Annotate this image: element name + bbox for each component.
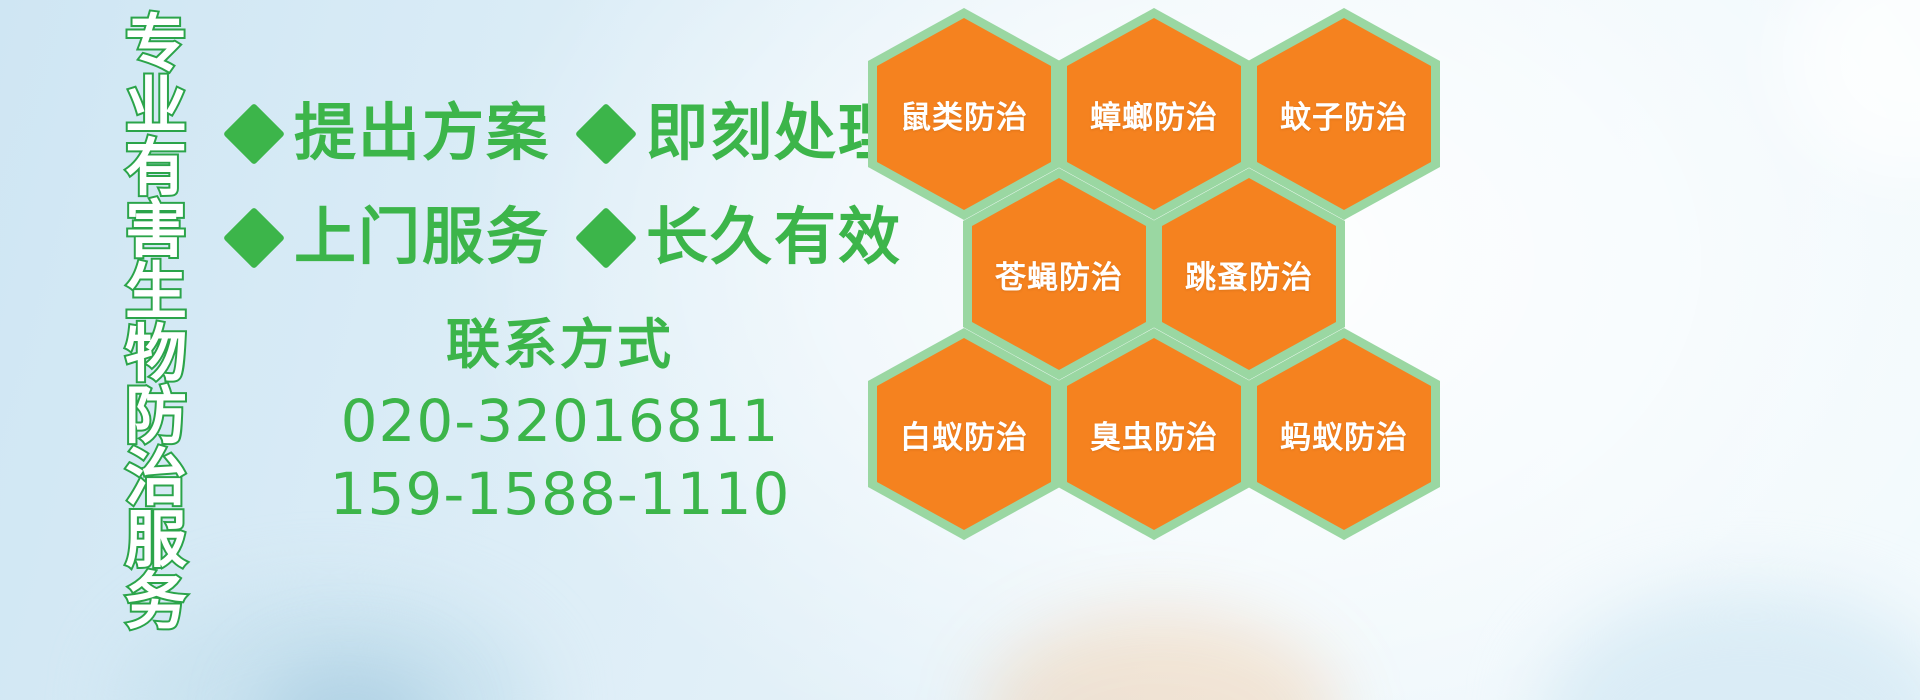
background-blur-blob (980, 610, 1340, 700)
service-hex-ant[interactable]: 蚂蚁防治 (1248, 328, 1440, 540)
vertical-headline-char: 治 (125, 448, 187, 510)
background-blur-blob (1540, 590, 1920, 700)
service-hex-termite[interactable]: 白蚁防治 (868, 328, 1060, 540)
service-honeycomb-grid: 鼠类防治 蟑螂防治 蚊子防治 苍蝇防治 跳蚤防治 白蚁防治 (860, 0, 1480, 580)
service-hex-label: 蚂蚁防治 (1280, 412, 1408, 457)
feature-item: 长久有效 (584, 207, 902, 269)
feature-item: 提出方案 (232, 103, 550, 165)
contact-block: 联系方式 020-32016811 159-1588-1110 (300, 316, 820, 530)
contact-phone-mobile[interactable]: 159-1588-1110 (300, 458, 820, 531)
vertical-headline-char: 专 (125, 14, 187, 76)
contact-phone-landline[interactable]: 020-32016811 (300, 385, 820, 458)
feature-label: 上门服务 (294, 207, 550, 269)
vertical-headline-char: 防 (125, 386, 187, 448)
feature-row: 提出方案 即刻处理 (232, 82, 872, 186)
vertical-headline-char: 生 (125, 262, 187, 324)
vertical-headline-char: 害 (125, 200, 187, 262)
service-hex-bedbug[interactable]: 臭虫防治 (1058, 328, 1250, 540)
pest-control-banner: 专 业 有 害 生 物 防 治 服 务 提出方案 即刻处理 上门服务 (0, 0, 1920, 700)
vertical-headline-char: 物 (125, 324, 187, 386)
contact-title: 联系方式 (300, 316, 820, 375)
diamond-bullet-icon (575, 207, 637, 269)
diamond-bullet-icon (223, 103, 285, 165)
service-hex-label: 臭虫防治 (1090, 412, 1218, 457)
diamond-bullet-icon (223, 207, 285, 269)
service-hex-label: 白蚁防治 (900, 412, 1028, 457)
service-hex-label: 蚊子防治 (1280, 92, 1408, 137)
background-blur-blob (1780, 0, 1920, 180)
vertical-headline-char: 服 (125, 510, 187, 572)
feature-label: 提出方案 (294, 103, 550, 165)
service-hex-label: 跳蚤防治 (1185, 252, 1313, 297)
feature-item: 即刻处理 (584, 103, 902, 165)
feature-row: 上门服务 长久有效 (232, 186, 872, 290)
vertical-headline-char: 有 (125, 138, 187, 200)
service-hex-label: 苍蝇防治 (995, 252, 1123, 297)
feature-item: 上门服务 (232, 207, 550, 269)
background-blur-blob (260, 660, 440, 700)
service-hex-label: 鼠类防治 (900, 92, 1028, 137)
diamond-bullet-icon (575, 103, 637, 165)
vertical-headline-char: 业 (125, 76, 187, 138)
feature-list: 提出方案 即刻处理 上门服务 长久有效 (232, 82, 872, 290)
vertical-headline-char: 务 (125, 572, 187, 634)
service-hex-label: 蟑螂防治 (1090, 92, 1218, 137)
vertical-headline: 专 业 有 害 生 物 防 治 服 务 (104, 14, 208, 559)
